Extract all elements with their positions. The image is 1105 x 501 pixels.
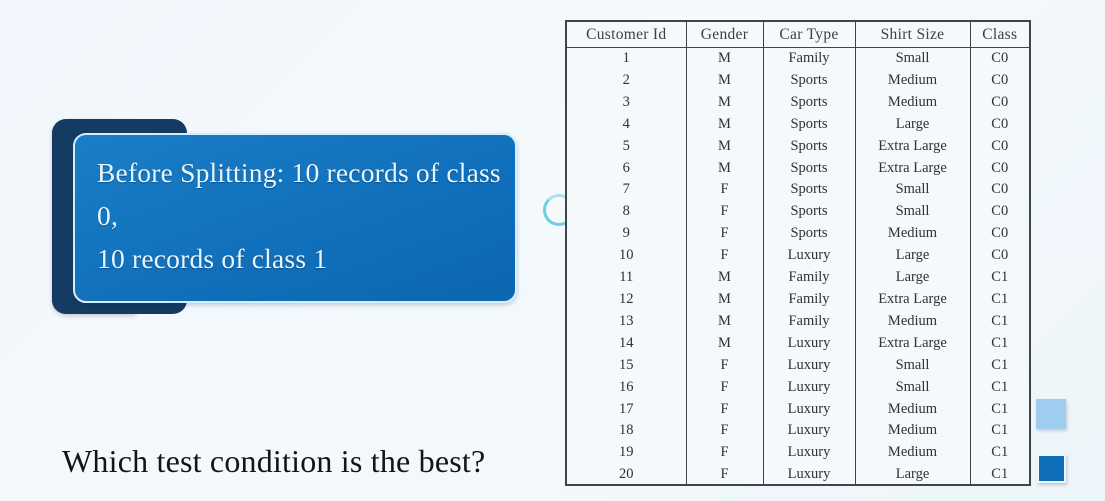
cell-shirt-size: Extra Large [855,158,970,180]
cell-shirt-size: Medium [855,399,970,421]
cell-shirt-size: Extra Large [855,333,970,355]
cell-gender: M [686,70,763,92]
cell-shirt-size: Extra Large [855,289,970,311]
cell-shirt-size: Medium [855,92,970,114]
cell-customer-id: 5 [567,136,686,158]
cell-gender: M [686,48,763,70]
cell-car-type: Sports [763,114,855,136]
table-row: 7FSportsSmallC0 [567,179,1029,201]
cell-class: C0 [970,136,1029,158]
table-row: 17FLuxuryMediumC1 [567,399,1029,421]
slide-canvas: Before Splitting: 10 records of class 0,… [0,0,1105,501]
callout-before-splitting: Before Splitting: 10 records of class 0,… [52,119,522,315]
question-text: Which test condition is the best? [62,443,485,480]
cell-customer-id: 2 [567,70,686,92]
cell-gender: F [686,201,763,223]
table-body: 1MFamilySmallC02MSportsMediumC03MSportsM… [567,48,1029,487]
cell-class: C0 [970,92,1029,114]
cell-gender: F [686,355,763,377]
cell-car-type: Luxury [763,245,855,267]
column-header-customer-id: Customer Id [567,22,686,48]
cell-car-type: Luxury [763,399,855,421]
cell-shirt-size: Extra Large [855,136,970,158]
cell-gender: F [686,223,763,245]
cell-customer-id: 17 [567,399,686,421]
cell-class: C0 [970,201,1029,223]
cell-car-type: Sports [763,179,855,201]
table-row: 14MLuxuryExtra LargeC1 [567,333,1029,355]
cell-customer-id: 4 [567,114,686,136]
column-header-shirt-size: Shirt Size [855,22,970,48]
cell-car-type: Luxury [763,377,855,399]
cell-shirt-size: Large [855,464,970,486]
cell-customer-id: 20 [567,464,686,486]
cell-car-type: Sports [763,158,855,180]
cell-customer-id: 1 [567,48,686,70]
table-row: 13MFamilyMediumC1 [567,311,1029,333]
cell-gender: F [686,245,763,267]
cell-car-type: Luxury [763,420,855,442]
cell-car-type: Family [763,289,855,311]
cell-gender: M [686,333,763,355]
cell-car-type: Family [763,267,855,289]
cell-shirt-size: Large [855,267,970,289]
table-header-row: Customer Id Gender Car Type Shirt Size C… [567,22,1029,48]
cell-gender: F [686,464,763,486]
cell-customer-id: 12 [567,289,686,311]
cell-car-type: Luxury [763,355,855,377]
cell-car-type: Sports [763,136,855,158]
cell-gender: M [686,311,763,333]
cell-gender: M [686,114,763,136]
cell-customer-id: 7 [567,179,686,201]
cell-class: C1 [970,311,1029,333]
cell-car-type: Family [763,311,855,333]
column-header-gender: Gender [686,22,763,48]
table-row: 16FLuxurySmallC1 [567,377,1029,399]
table-row: 10FLuxuryLargeC0 [567,245,1029,267]
cell-customer-id: 11 [567,267,686,289]
decor-square-dark [1037,454,1066,483]
cell-gender: M [686,289,763,311]
cell-class: C0 [970,48,1029,70]
cell-class: C0 [970,70,1029,92]
cell-car-type: Sports [763,201,855,223]
cell-class: C1 [970,377,1029,399]
cell-gender: F [686,377,763,399]
table-row: 5MSportsExtra LargeC0 [567,136,1029,158]
cell-gender: F [686,179,763,201]
cell-car-type: Family [763,48,855,70]
cell-class: C1 [970,399,1029,421]
customer-data-table: Customer Id Gender Car Type Shirt Size C… [565,20,1031,486]
cell-class: C1 [970,442,1029,464]
table-row: 20FLuxuryLargeC1 [567,464,1029,486]
cell-class: C0 [970,179,1029,201]
cell-customer-id: 15 [567,355,686,377]
table: Customer Id Gender Car Type Shirt Size C… [567,22,1029,486]
decor-square-light [1036,399,1066,429]
cell-gender: M [686,267,763,289]
cell-gender: M [686,92,763,114]
cell-car-type: Luxury [763,464,855,486]
table-row: 18FLuxuryMediumC1 [567,420,1029,442]
cell-class: C0 [970,245,1029,267]
column-header-car-type: Car Type [763,22,855,48]
cell-customer-id: 18 [567,420,686,442]
cell-class: C0 [970,114,1029,136]
cell-customer-id: 14 [567,333,686,355]
cell-class: C1 [970,289,1029,311]
table-row: 15FLuxurySmallC1 [567,355,1029,377]
cell-shirt-size: Small [855,179,970,201]
table-row: 4MSportsLargeC0 [567,114,1029,136]
cell-shirt-size: Small [855,48,970,70]
callout-text: Before Splitting: 10 records of class 0,… [97,151,505,280]
cell-gender: F [686,420,763,442]
cell-gender: F [686,442,763,464]
cell-customer-id: 6 [567,158,686,180]
table-row: 2MSportsMediumC0 [567,70,1029,92]
cell-shirt-size: Medium [855,442,970,464]
cell-car-type: Luxury [763,442,855,464]
callout-box: Before Splitting: 10 records of class 0,… [73,133,517,303]
cell-customer-id: 16 [567,377,686,399]
cell-customer-id: 9 [567,223,686,245]
table-row: 1MFamilySmallC0 [567,48,1029,70]
cell-customer-id: 13 [567,311,686,333]
cell-class: C0 [970,158,1029,180]
cell-class: C0 [970,223,1029,245]
cell-class: C1 [970,464,1029,486]
table-row: 11MFamilyLargeC1 [567,267,1029,289]
table-row: 19FLuxuryMediumC1 [567,442,1029,464]
cell-shirt-size: Medium [855,311,970,333]
cell-customer-id: 10 [567,245,686,267]
cell-class: C1 [970,267,1029,289]
table-row: 8FSportsSmallC0 [567,201,1029,223]
cell-shirt-size: Small [855,377,970,399]
cell-gender: M [686,136,763,158]
cell-customer-id: 8 [567,201,686,223]
cell-shirt-size: Large [855,245,970,267]
cell-class: C1 [970,355,1029,377]
cell-gender: M [686,158,763,180]
cell-customer-id: 19 [567,442,686,464]
cell-shirt-size: Medium [855,70,970,92]
cell-customer-id: 3 [567,92,686,114]
cell-gender: F [686,399,763,421]
cell-shirt-size: Medium [855,223,970,245]
cell-car-type: Sports [763,223,855,245]
table-row: 9FSportsMediumC0 [567,223,1029,245]
table-row: 3MSportsMediumC0 [567,92,1029,114]
cell-car-type: Sports [763,70,855,92]
cell-shirt-size: Large [855,114,970,136]
cell-class: C1 [970,420,1029,442]
cell-shirt-size: Small [855,201,970,223]
table-row: 12MFamilyExtra LargeC1 [567,289,1029,311]
cell-class: C1 [970,333,1029,355]
cell-shirt-size: Medium [855,420,970,442]
cell-car-type: Luxury [763,333,855,355]
table-row: 6MSportsExtra LargeC0 [567,158,1029,180]
cell-car-type: Sports [763,92,855,114]
column-header-class: Class [970,22,1029,48]
cell-shirt-size: Small [855,355,970,377]
